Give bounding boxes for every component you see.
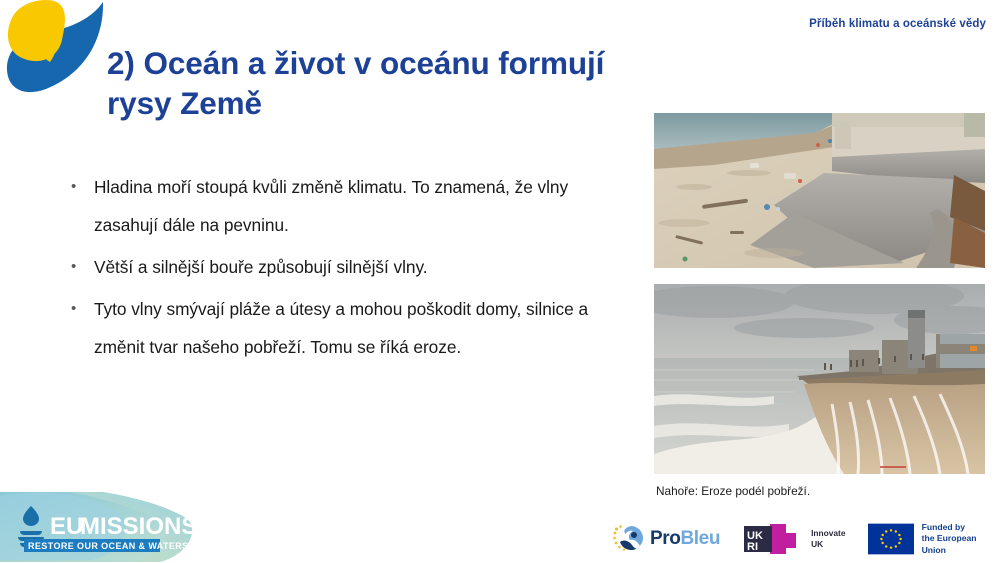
list-item: • Tyto vlny smývají pláže a útesy a moho…: [64, 290, 609, 366]
photo-coastal-erosion-concrete: [654, 113, 985, 268]
eu-flag-icon: [868, 523, 914, 555]
photo-storm-coastal-erosion: [654, 284, 985, 474]
probleu-logo: ProBleu: [612, 524, 720, 554]
bullet-marker-icon: •: [64, 290, 94, 328]
eu-missions-logo: EU MISSIONS RESTORE OUR OCEAN & WATERS: [0, 492, 196, 563]
bullet-text: Tyto vlny smývají pláže a útesy a mohou …: [94, 290, 609, 366]
bullet-list: • Hladina moří stoupá kvůli změně klimat…: [64, 168, 609, 370]
eu-missions-eu-label: EU: [50, 513, 83, 540]
bullet-text: Větší a silnější bouře způsobují silnějš…: [94, 248, 609, 286]
probleu-mark-icon: [612, 524, 646, 554]
svg-text:RI: RI: [747, 541, 758, 553]
eu-missions-missions-label: MISSIONS: [80, 513, 196, 540]
probleu-word-bleu: Bleu: [680, 528, 720, 549]
funded-by-eu-line1: Funded by: [922, 522, 965, 532]
innovate-uk-line2: UK: [811, 539, 823, 549]
funded-by-eu-line2: the European Union: [922, 533, 977, 554]
list-item: • Větší a silnější bouře způsobují silně…: [64, 248, 609, 286]
probleu-wordmark: ProBleu: [650, 528, 720, 550]
image-caption: Nahoře: Eroze podél pobřeží.: [656, 484, 810, 498]
funded-by-eu-wordmark: Funded by the European Union: [922, 522, 1000, 556]
bullet-marker-icon: •: [64, 168, 94, 206]
footer-logo-strip: ProBleu UK RI Innovate UK: [612, 519, 1000, 559]
decorative-leaf-icon: [0, 0, 112, 100]
bullet-text: Hladina moří stoupá kvůli změně klimatu.…: [94, 168, 609, 244]
list-item: • Hladina moří stoupá kvůli změně klimat…: [64, 168, 609, 244]
probleu-word-pro: Pro: [650, 528, 680, 549]
header-title: Příběh klimatu a oceánské vědy: [809, 18, 986, 30]
innovate-uk-wordmark: Innovate UK: [811, 528, 845, 550]
ukri-mark-icon: UK RI: [742, 522, 804, 556]
innovate-uk-line1: Innovate: [811, 528, 845, 538]
funded-by-eu-logo: Funded by the European Union: [868, 522, 1000, 556]
innovate-uk-logo: UK RI Innovate UK: [742, 522, 845, 556]
slide: Příběh klimatu a oceánské vědy 2) Oceán …: [0, 0, 1000, 563]
eu-missions-tagline: RESTORE OUR OCEAN & WATERS: [28, 541, 189, 551]
page-title: 2) Oceán a život v oceánu formují rysy Z…: [107, 44, 667, 123]
bullet-marker-icon: •: [64, 248, 94, 286]
